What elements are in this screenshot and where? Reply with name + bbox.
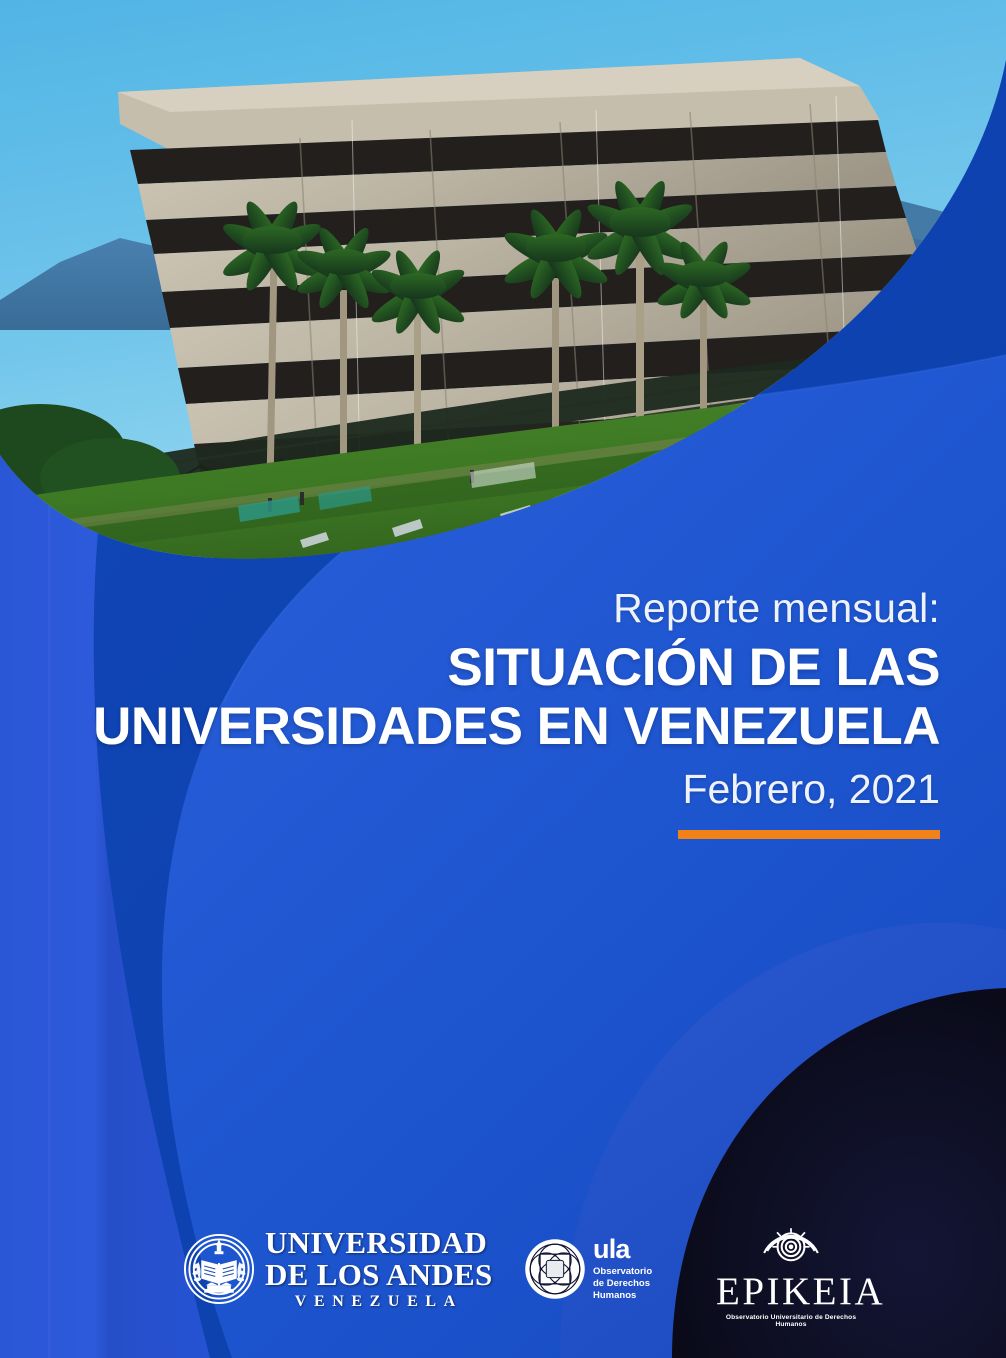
epikeia-subtitle: Observatorio Universitario de Derechos H… xyxy=(716,1314,866,1328)
observatory-name: ula xyxy=(593,1236,657,1263)
ula-wordmark: UNIVERSIDAD DE LOS ANDES VENEZUELA xyxy=(265,1227,493,1310)
title-block: Reporte mensual: SITUACIÓN DE LAS UNIVER… xyxy=(40,586,940,839)
report-kicker: Reporte mensual: xyxy=(40,586,940,632)
epikeia-eye-icon xyxy=(760,1222,822,1270)
report-cover-page: Reporte mensual: SITUACIÓN DE LAS UNIVER… xyxy=(0,0,1006,1358)
logo-row: UNIVERSIDAD DE LOS ANDES VENEZUELA xyxy=(0,1222,1006,1332)
page-title-line-2: UNIVERSIDADES EN VENEZUELA xyxy=(40,697,940,756)
logo-epikeia: EPIKEIA Observatorio Universitario de De… xyxy=(716,1222,866,1328)
ula-word-line-2: DE LOS ANDES xyxy=(265,1259,493,1290)
ula-word-line-3: VENEZUELA xyxy=(265,1294,493,1310)
ula-word-line-1: UNIVERSIDAD xyxy=(265,1227,493,1258)
page-title-line-1: SITUACIÓN DE LAS xyxy=(447,638,940,697)
logo-ula-observatorio: ula Observatorio de Derechos Humanos xyxy=(524,1236,657,1302)
epikeia-name: EPIKEIA xyxy=(716,1272,866,1311)
observatory-subtitle: Observatorio de Derechos Humanos xyxy=(593,1266,657,1302)
logo-universidad-de-los-andes: UNIVERSIDAD DE LOS ANDES VENEZUELA xyxy=(182,1227,493,1310)
report-date: Febrero, 2021 xyxy=(40,767,940,813)
ula-observatory-eye-icon xyxy=(524,1238,586,1300)
page-title: SITUACIÓN DE LAS UNIVERSIDADES EN VENEZU… xyxy=(40,638,940,757)
accent-bar xyxy=(678,830,940,839)
observatory-wordmark: ula Observatorio de Derechos Humanos xyxy=(593,1236,657,1302)
ula-crest-seal-icon xyxy=(182,1232,256,1306)
